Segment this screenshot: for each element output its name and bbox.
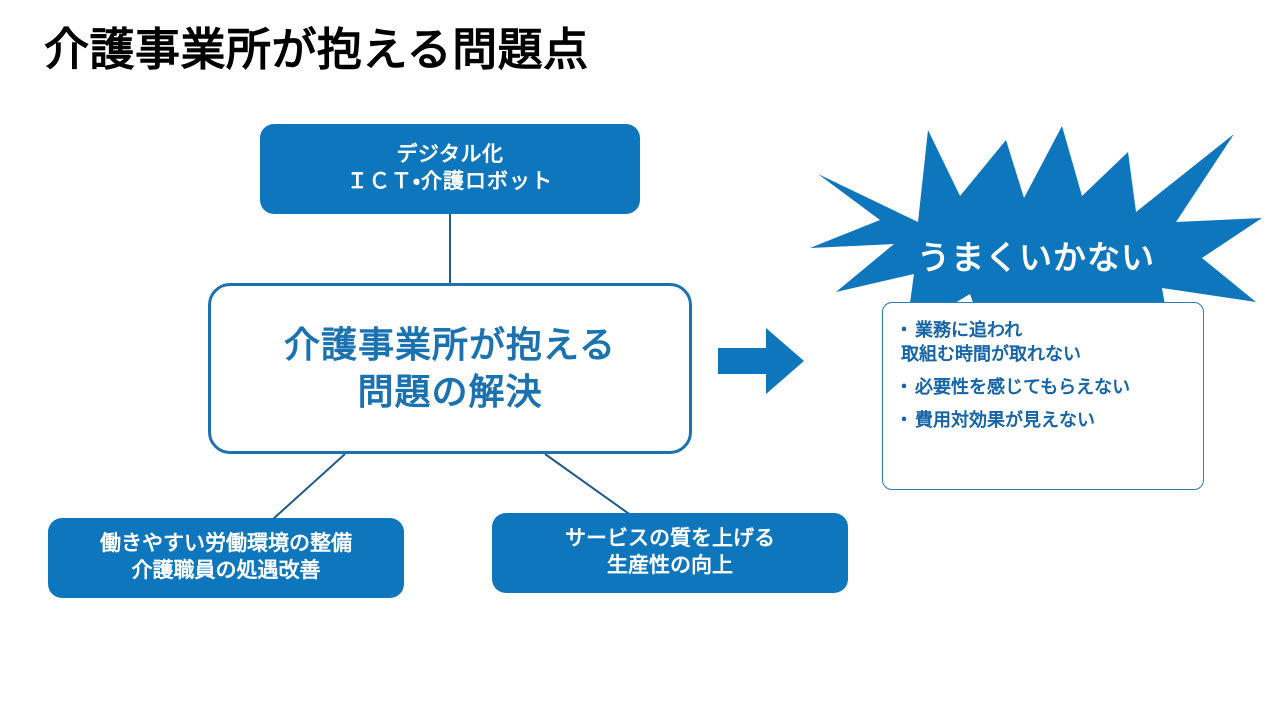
problem-text-0: 業務に追われ 取組む時間が取れない [915, 319, 1191, 367]
page-title: 介護事業所が抱える問題点 [44, 24, 589, 76]
slide-canvas: 介護事業所が抱える問題点 デジタル化 ＩＣＴ・介護ロボット 介護事業所が抱える … [0, 0, 1280, 720]
connector-center-to-service [545, 454, 632, 516]
node-central-problem-solving[interactable]: 介護事業所が抱える 問題の解決 [208, 283, 692, 454]
list-item: ・ 業務に追われ 取組む時間が取れない [895, 319, 1191, 367]
node-digital-line1: デジタル化 [347, 142, 553, 169]
problem-text-2: 費用対効果が見えない [915, 409, 1191, 433]
list-item: ・ 費用対効果が見えない [895, 409, 1191, 433]
node-work-line2: 介護職員の処遇改善 [100, 558, 352, 585]
problem-0-line1: 業務に追われ [915, 320, 1022, 340]
node-work-line1: 働きやすい労働環境の整備 [100, 531, 352, 558]
node-service-line1: サービスの質を上げる [565, 526, 775, 553]
node-work-environment[interactable]: 働きやすい労働環境の整備 介護職員の処遇改善 [48, 518, 404, 598]
starburst-label: うまくいかない [810, 240, 1262, 276]
node-service-line2: 生産性の向上 [565, 553, 775, 580]
list-item: ・ 必要性を感じてもらえない [895, 376, 1191, 400]
connector-center-to-work [272, 454, 345, 520]
node-service-quality[interactable]: サービスの質を上げる 生産性の向上 [492, 513, 848, 593]
problem-0-line2: 取組む時間が取れない [901, 343, 1191, 367]
problem-1-line1: 必要性を感じてもらえない [915, 377, 1130, 397]
bullet-icon: ・ [895, 376, 913, 400]
bullet-icon: ・ [895, 409, 913, 433]
bullet-icon: ・ [895, 319, 913, 343]
arrow-right-icon [718, 328, 804, 394]
problems-panel: ・ 業務に追われ 取組む時間が取れない ・ 必要性を感じてもらえない ・ 費用対… [882, 302, 1204, 490]
problem-text-1: 必要性を感じてもらえない [915, 376, 1191, 400]
node-center-line1: 介護事業所が抱える [284, 322, 616, 369]
node-digital-line2: ＩＣＴ・介護ロボット [347, 169, 553, 196]
node-center-line2: 問題の解決 [284, 369, 616, 416]
problem-2-line1: 費用対効果が見えない [915, 410, 1095, 430]
node-digital-transformation[interactable]: デジタル化 ＩＣＴ・介護ロボット [260, 124, 640, 214]
